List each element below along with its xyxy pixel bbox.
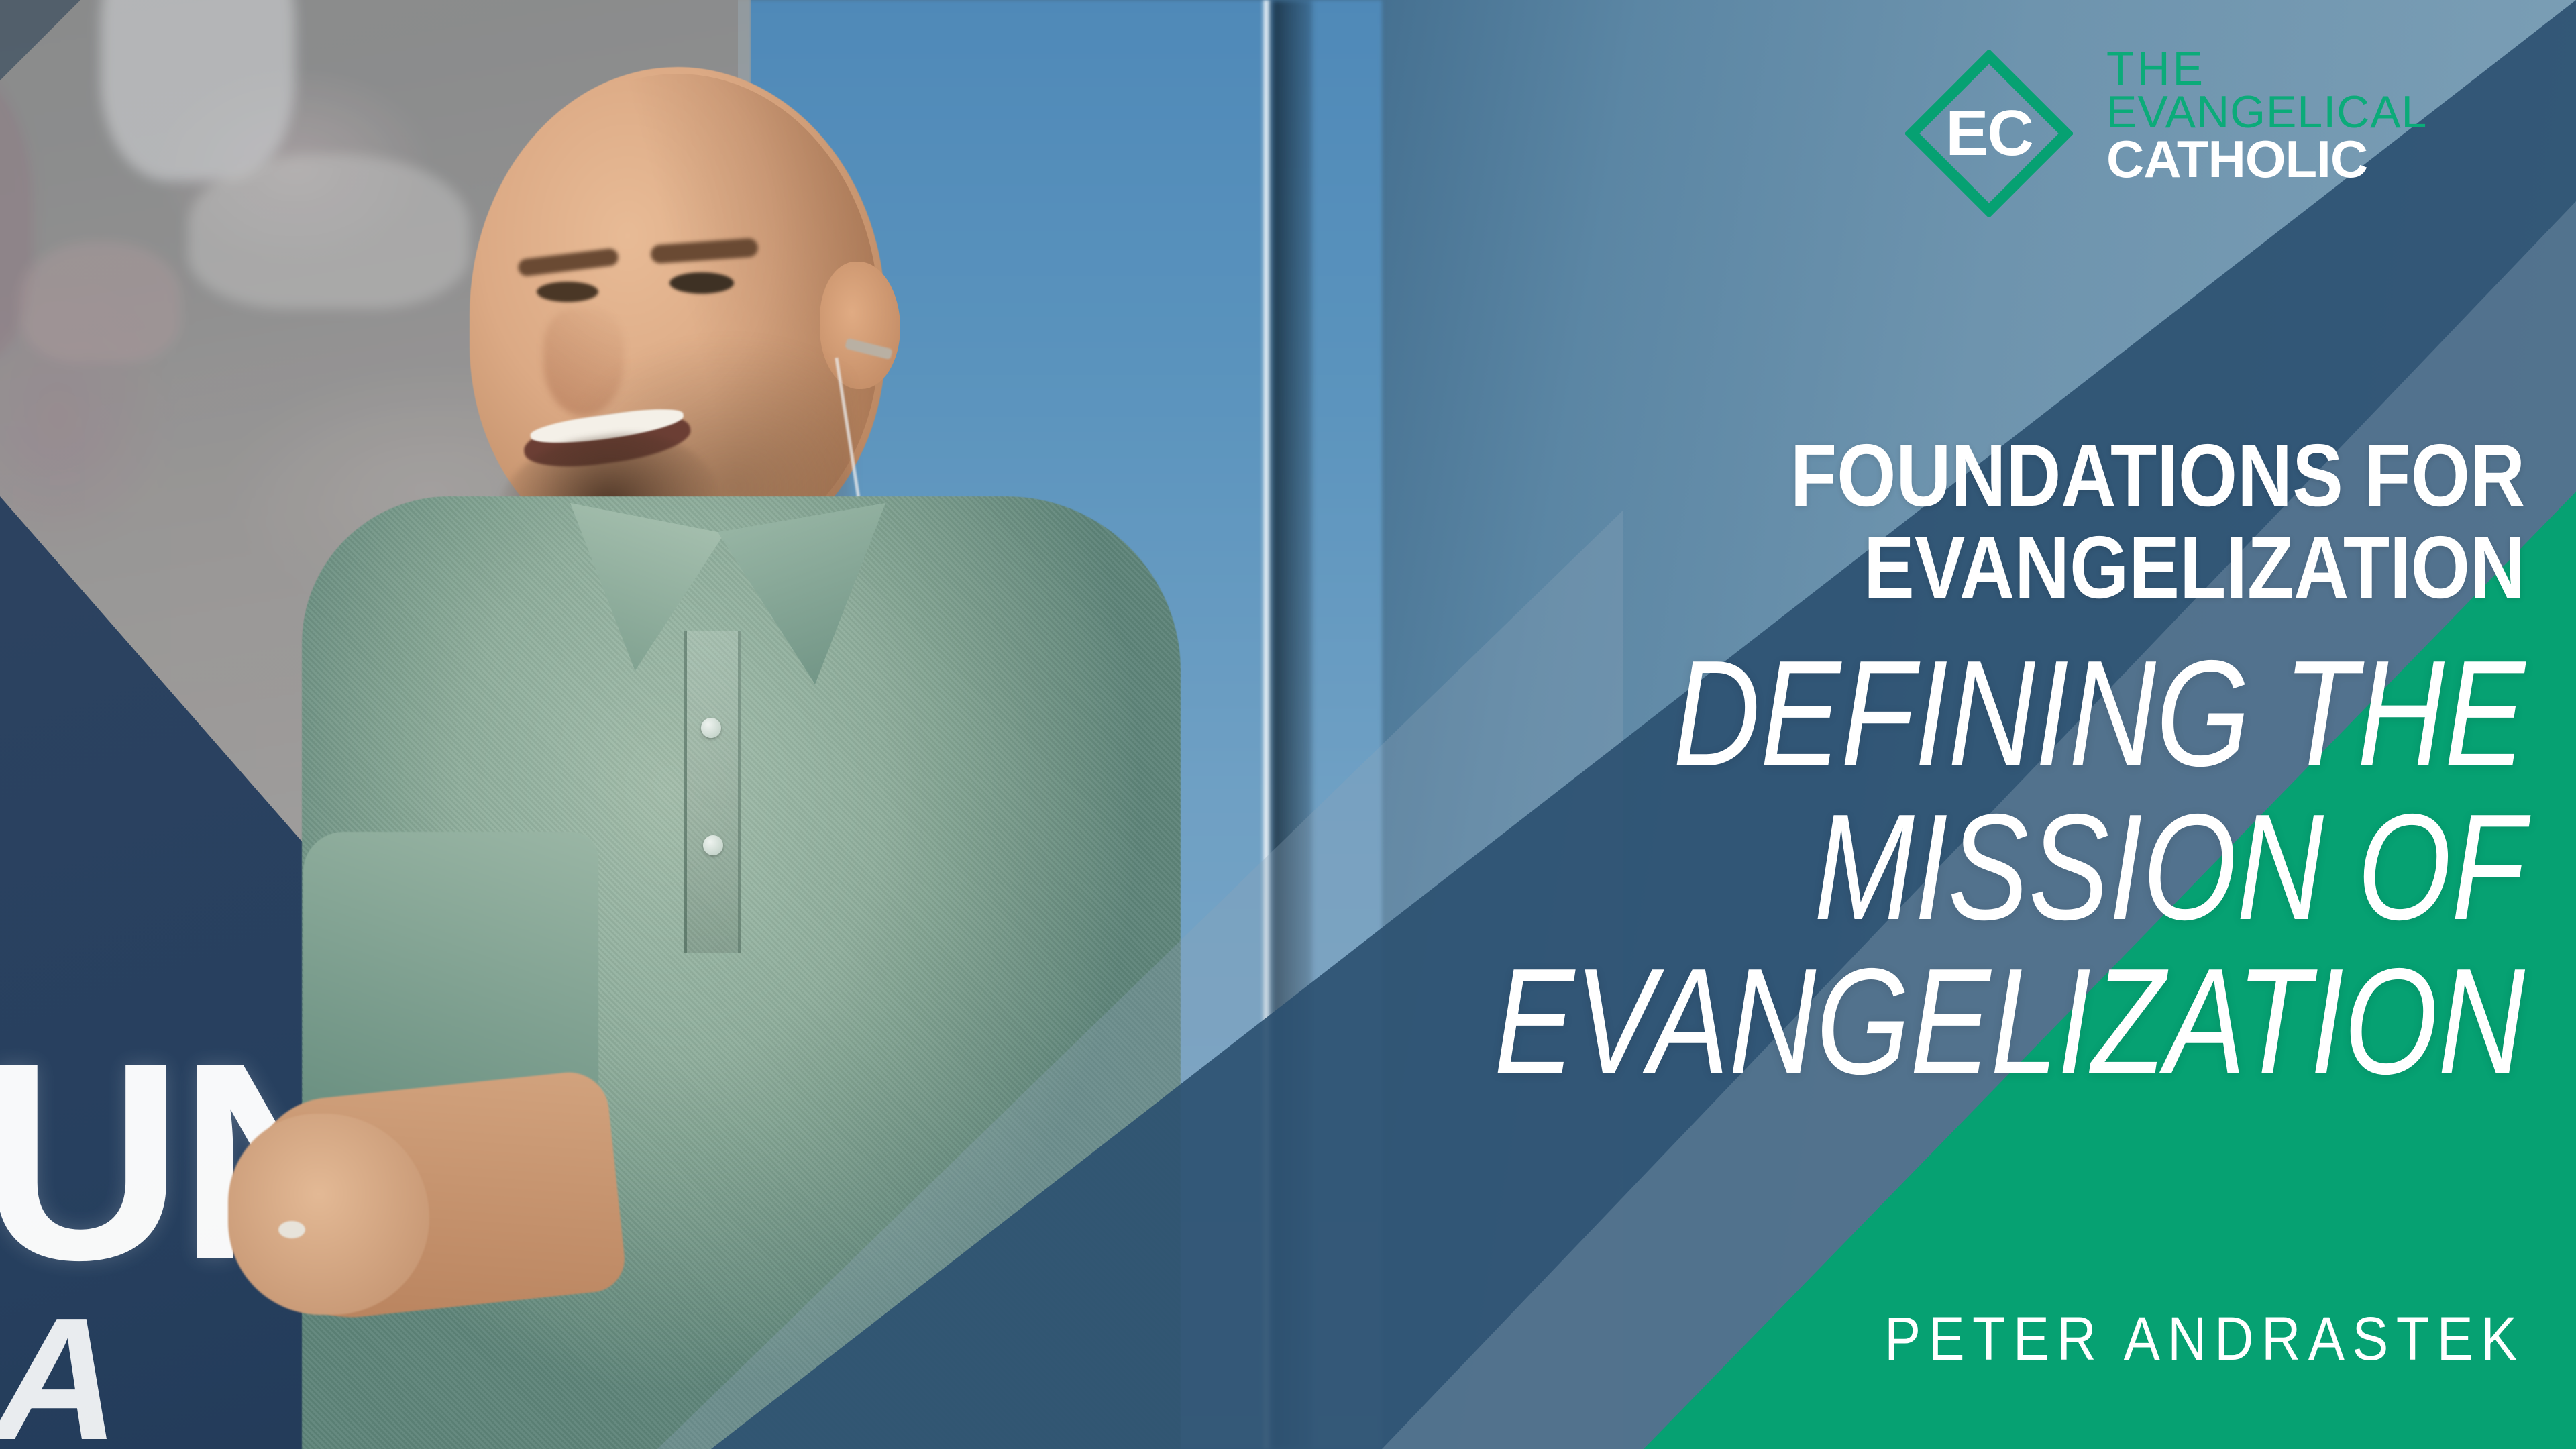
session-title-line-3: EVANGELIZATION — [1237, 945, 2525, 1099]
logo-monogram: EC — [1905, 50, 2073, 217]
title-block: FOUNDATIONS FOR EVANGELIZATION DEFINING … — [915, 429, 2525, 1098]
speaker-ring — [278, 1221, 305, 1238]
logo-wordmark-catholic: CATHOLIC — [2106, 133, 2509, 185]
speaker-eye-right — [669, 272, 734, 294]
speaker-nose — [543, 309, 624, 416]
logo-wordmark: THE EVANGELICAL CATHOLIC — [2106, 47, 2509, 185]
session-title-line-2: MISSION OF — [1237, 790, 2525, 945]
speaker-shirt-placket — [684, 631, 741, 953]
video-title-card: UN A — [0, 0, 2576, 1449]
presenter-name: PETER ANDRASTEK — [1885, 1304, 2525, 1375]
speaker-shirt-button — [701, 718, 721, 738]
speaker-eye-left — [537, 282, 598, 302]
session-title: DEFINING THE MISSION OF EVANGELIZATION — [1237, 637, 2525, 1099]
speaker-shirt-button — [703, 835, 723, 855]
session-title-line-1: DEFINING THE — [1237, 637, 2525, 791]
banner-figure-hands — [20, 241, 181, 362]
logo-wordmark-evangelical: EVANGELICAL — [2106, 89, 2509, 136]
series-title-line-2: EVANGELIZATION — [1140, 521, 2525, 613]
brand-logo[interactable]: EC THE EVANGELICAL CATHOLIC — [1905, 47, 2509, 221]
series-title-line-1: FOUNDATIONS FOR — [1140, 429, 2525, 521]
logo-wordmark-the: THE — [2106, 47, 2509, 91]
